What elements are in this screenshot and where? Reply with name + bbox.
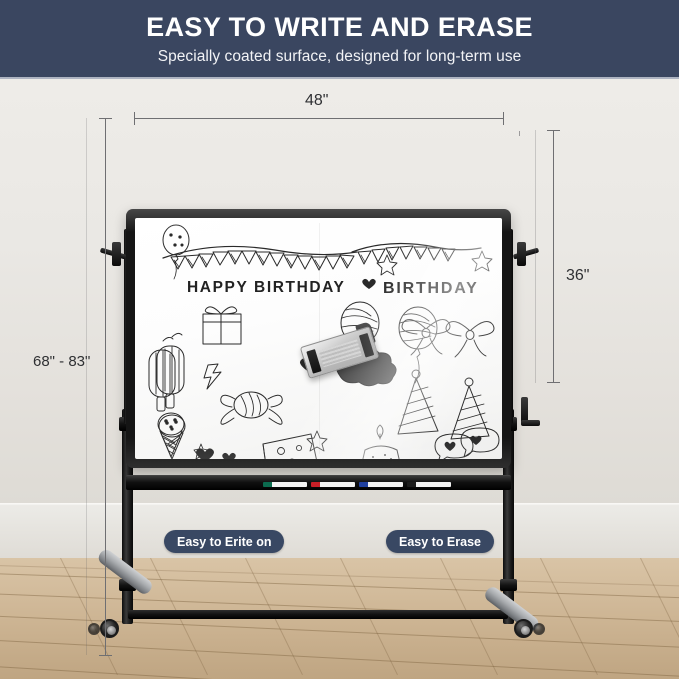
dim-cap-width-left bbox=[134, 112, 135, 125]
right-panel-doodles: BIRTHDAY bbox=[135, 218, 502, 459]
dim-label-overall-height: 68" - 83" bbox=[33, 353, 90, 370]
lower-collar-right bbox=[500, 579, 517, 591]
whiteboard-frame: HAPPY BIRTHDAY bbox=[126, 209, 511, 468]
stand-bottom-crossbar bbox=[128, 610, 508, 619]
crank-grip-right[interactable] bbox=[521, 420, 540, 426]
marker-blue[interactable] bbox=[359, 482, 403, 487]
dim-line-overall-height bbox=[105, 118, 106, 655]
guide-overall-left bbox=[86, 118, 87, 655]
caster-right bbox=[514, 619, 533, 638]
badge-label: Easy to Erite on bbox=[177, 535, 271, 549]
dim-cap-width-right bbox=[503, 112, 504, 125]
caster-left-rear bbox=[88, 623, 100, 635]
product-scene: HAPPY BIRTHDAY bbox=[0, 79, 679, 679]
marker-red[interactable] bbox=[311, 482, 355, 487]
dim-line-width bbox=[134, 118, 503, 119]
dim-cap-board-bottom bbox=[547, 382, 560, 383]
pivot-knob-right[interactable] bbox=[517, 242, 526, 266]
pivot-knob-left[interactable] bbox=[112, 242, 121, 266]
dim-label-width: 48" bbox=[305, 92, 328, 110]
dim-cap-overall-bottom bbox=[99, 655, 112, 656]
caster-right-rear bbox=[533, 623, 545, 635]
badge-label: Easy to Erase bbox=[399, 535, 481, 549]
marker-green[interactable] bbox=[263, 482, 307, 487]
badge-easy-to-write: Easy to Erite on bbox=[164, 530, 284, 553]
product-image: EASY TO WRITE AND ERASE Specially coated… bbox=[0, 0, 679, 679]
whiteboard-surface[interactable]: HAPPY BIRTHDAY bbox=[135, 218, 502, 459]
guide-board-top bbox=[519, 131, 520, 136]
svg-text:BIRTHDAY: BIRTHDAY bbox=[383, 280, 479, 297]
dim-label-board-height: 36" bbox=[566, 267, 589, 285]
badge-easy-to-erase: Easy to Erase bbox=[386, 530, 494, 553]
marker-black[interactable] bbox=[407, 482, 451, 487]
caster-left bbox=[100, 619, 119, 638]
dim-cap-board-top bbox=[547, 130, 560, 131]
guide-board-right bbox=[535, 130, 536, 383]
banner-title: EASY TO WRITE AND ERASE bbox=[146, 13, 533, 41]
dim-line-board-height bbox=[553, 130, 554, 382]
banner-subtitle: Specially coated surface, designed for l… bbox=[158, 48, 522, 66]
dim-cap-overall-top bbox=[99, 118, 112, 119]
header-banner: EASY TO WRITE AND ERASE Specially coated… bbox=[0, 0, 679, 79]
